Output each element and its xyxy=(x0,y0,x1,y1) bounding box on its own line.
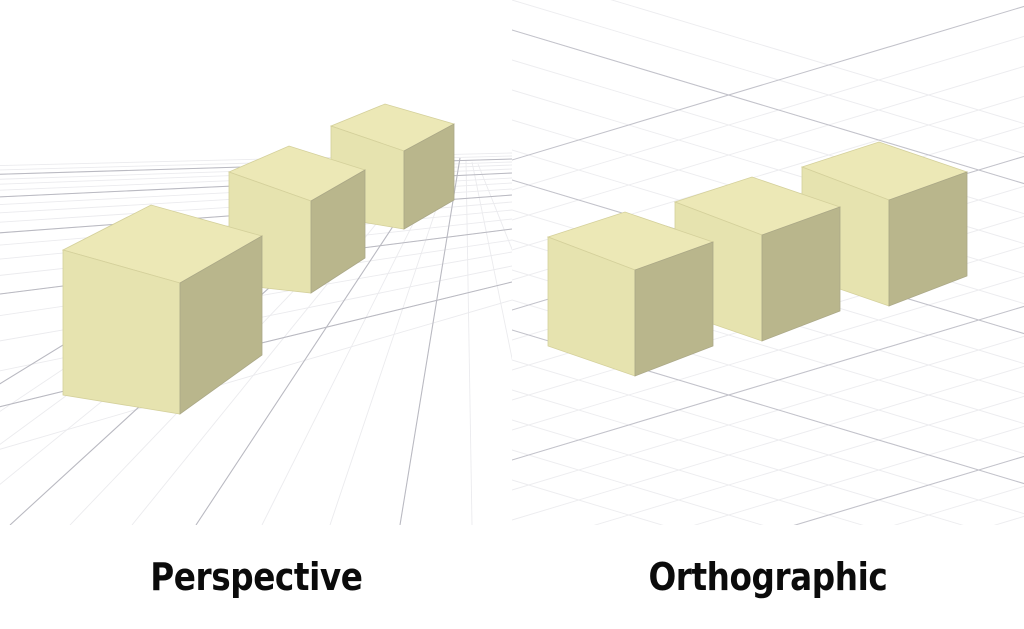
caption-band-orthographic: Orthographic xyxy=(512,525,1024,629)
perspective-scene xyxy=(0,0,512,525)
orthographic-scene xyxy=(512,0,1024,525)
viewport-perspective[interactable] xyxy=(0,0,512,525)
caption-band-perspective: Perspective xyxy=(0,525,512,629)
panel-perspective: Perspective xyxy=(0,0,512,629)
figure-root: Perspective xyxy=(0,0,1024,629)
caption-perspective: Perspective xyxy=(150,558,362,596)
cube-orthographic-near[interactable] xyxy=(548,212,713,376)
viewport-orthographic[interactable] xyxy=(512,0,1024,525)
panel-orthographic: Orthographic xyxy=(512,0,1024,629)
caption-orthographic: Orthographic xyxy=(649,558,888,596)
